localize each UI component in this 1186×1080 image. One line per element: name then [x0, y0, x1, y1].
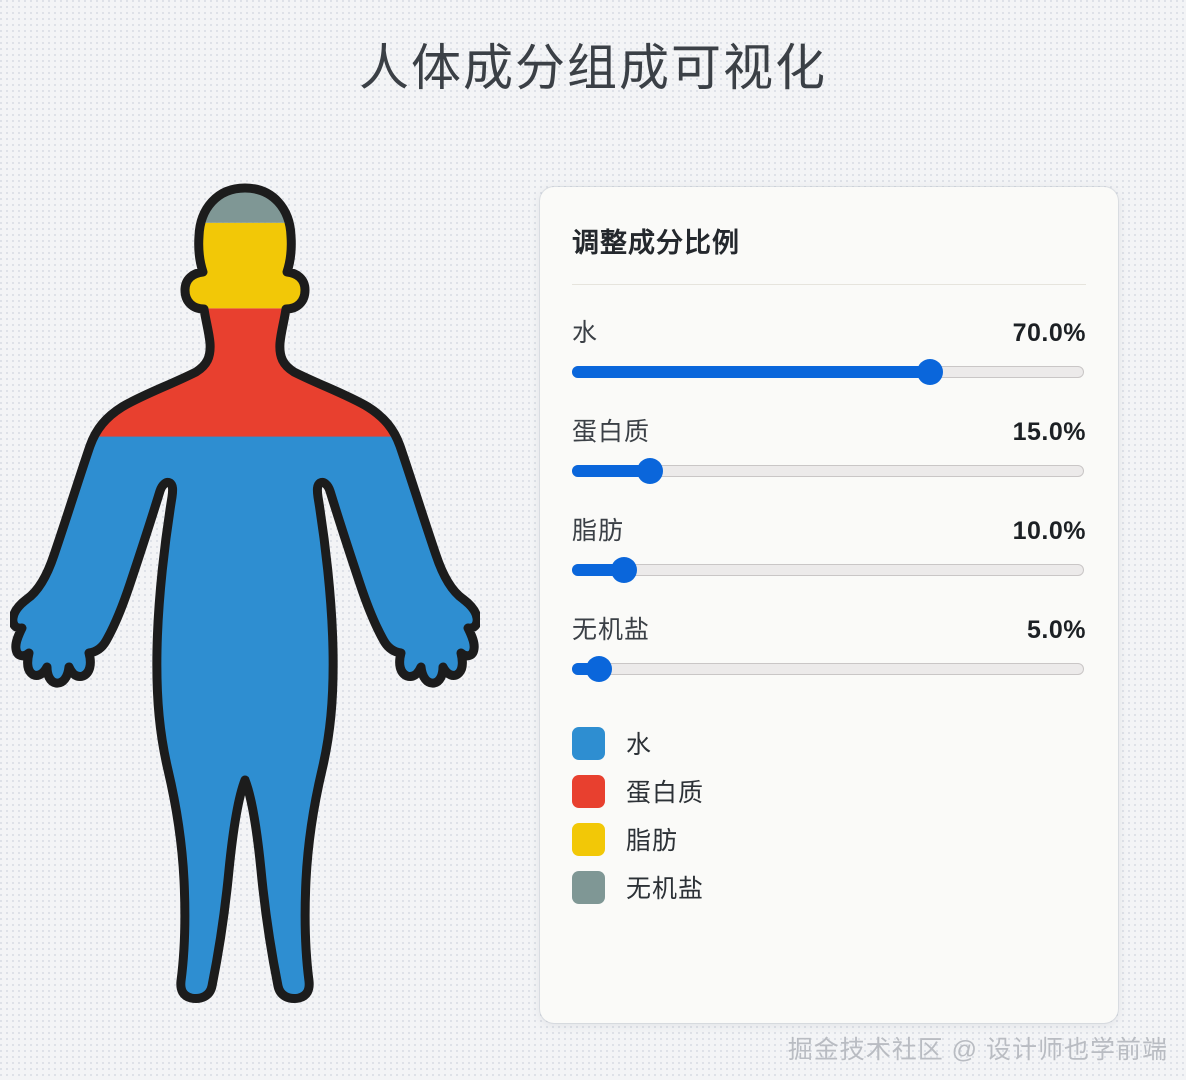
slider-value-fat: 10.0% [1013, 517, 1086, 546]
slider-thumb-fat[interactable] [611, 557, 637, 583]
human-body-figure [10, 180, 480, 1030]
legend-swatch-water [572, 727, 605, 760]
slider-fat[interactable] [572, 564, 1084, 576]
legend-label-protein: 蛋白质 [626, 773, 704, 809]
legend-label-minerals: 无机盐 [626, 869, 704, 905]
slider-group-fat: 脂肪 10.0% [572, 511, 1086, 576]
panel-divider [572, 284, 1086, 285]
slider-group-water: 水 70.0% [572, 313, 1086, 378]
watermark: 掘金技术社区 @ 设计师也学前端 [788, 1030, 1168, 1066]
slider-thumb-minerals[interactable] [586, 656, 612, 682]
human-body-svg [10, 180, 480, 1030]
composition-layers [10, 180, 480, 1030]
layer-water [10, 437, 480, 1031]
slider-label-minerals: 无机盐 [572, 610, 650, 646]
slider-head-fat: 脂肪 10.0% [572, 511, 1086, 547]
legend-item-water: 水 [572, 719, 1086, 767]
composition-control-panel: 调整成分比例 水 70.0% 蛋白质 15.0% [540, 187, 1118, 1023]
legend-swatch-fat [572, 823, 605, 856]
slider-minerals[interactable] [572, 663, 1084, 675]
legend-item-fat: 脂肪 [572, 815, 1086, 863]
slider-value-water: 70.0% [1013, 319, 1086, 348]
slider-head-water: 水 70.0% [572, 313, 1086, 349]
legend-swatch-protein [572, 775, 605, 808]
sliders-container: 水 70.0% 蛋白质 15.0% 脂肪 10.0% [572, 313, 1086, 675]
slider-label-fat: 脂肪 [572, 511, 624, 547]
slider-value-minerals: 5.0% [1027, 616, 1086, 645]
legend-item-minerals: 无机盐 [572, 863, 1086, 911]
legend-item-protein: 蛋白质 [572, 767, 1086, 815]
page-title: 人体成分组成可视化 [0, 36, 1186, 101]
slider-fill-water [572, 366, 931, 378]
slider-water[interactable] [572, 366, 1084, 378]
slider-protein[interactable] [572, 465, 1084, 477]
layer-protein [10, 308, 480, 436]
slider-value-protein: 15.0% [1013, 418, 1086, 447]
slider-group-minerals: 无机盐 5.0% [572, 610, 1086, 675]
slider-label-water: 水 [572, 313, 598, 349]
slider-head-minerals: 无机盐 5.0% [572, 610, 1086, 646]
panel-title: 调整成分比例 [572, 221, 1086, 260]
slider-head-protein: 蛋白质 15.0% [572, 412, 1086, 448]
legend-label-fat: 脂肪 [626, 821, 678, 857]
layer-fat [10, 223, 480, 308]
legend-label-water: 水 [626, 725, 652, 761]
legend: 水 蛋白质 脂肪 无机盐 [572, 719, 1086, 911]
slider-group-protein: 蛋白质 15.0% [572, 412, 1086, 477]
slider-label-protein: 蛋白质 [572, 412, 650, 448]
slider-thumb-protein[interactable] [637, 458, 663, 484]
slider-thumb-water[interactable] [917, 359, 943, 385]
legend-swatch-minerals [572, 871, 605, 904]
